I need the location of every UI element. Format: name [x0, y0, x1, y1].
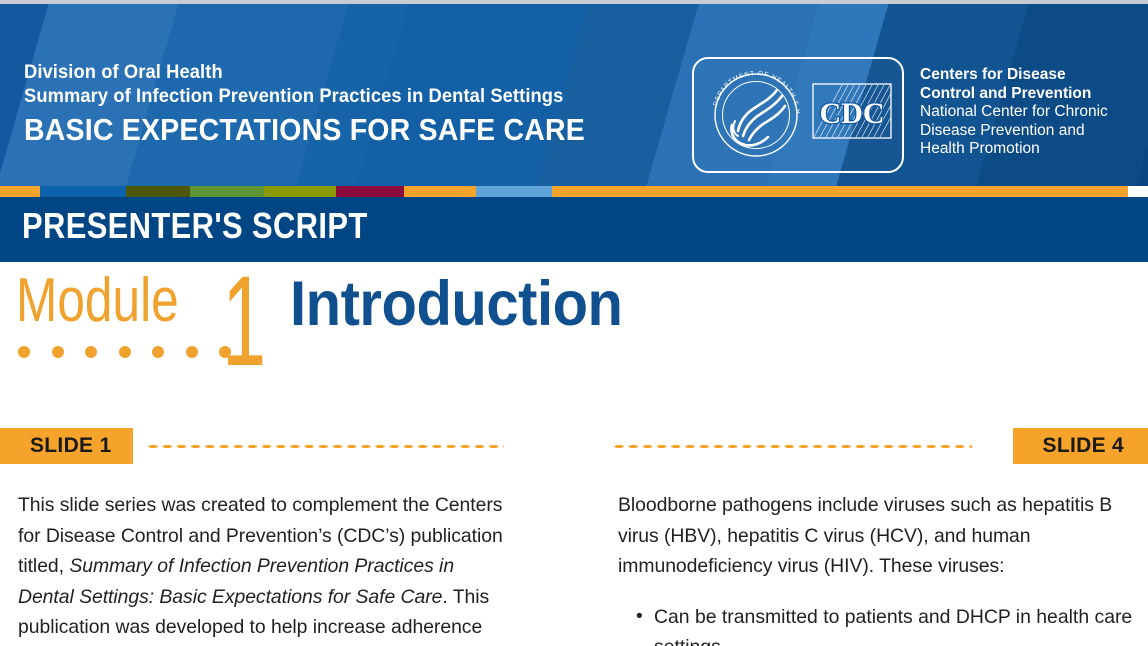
color-segment-8 — [552, 186, 1128, 197]
page-header: Division of Oral Health Summary of Infec… — [0, 4, 1148, 186]
presenter-script-bar: PRESENTER'S SCRIPT — [0, 197, 1148, 262]
bullet-item: Can be transmitted to patients and DHCP … — [634, 602, 1148, 646]
agency-line-5: Health Promotion — [920, 140, 1140, 159]
module-dot — [186, 346, 198, 358]
agency-line-1: Centers for Disease — [920, 66, 1140, 85]
module-dot — [85, 346, 97, 358]
summary-line: Summary of Infection Prevention Practice… — [24, 84, 597, 109]
cdc-logo: DEPARTMENT OF HEALTH & HUMAN SERVICES US… — [692, 57, 904, 173]
slide-4-paragraph: Bloodborne pathogens include viruses suc… — [612, 490, 1148, 582]
module-dot — [52, 346, 64, 358]
cdc-wordmark-icon: CDC — [812, 83, 892, 139]
agency-name: Centers for Disease Control and Preventi… — [920, 66, 1140, 159]
module-number: 1 — [222, 264, 266, 380]
slide-4-bullet-list: Can be transmitted to patients and DHCP … — [612, 602, 1148, 646]
color-segment-4 — [264, 186, 336, 197]
svg-text:CDC: CDC — [820, 97, 885, 130]
color-segment-2 — [126, 186, 190, 197]
color-segment-7 — [476, 186, 552, 197]
dotted-rule-left — [146, 444, 504, 449]
dotted-rule-right — [612, 444, 972, 449]
module-title-row: Module 1 Introduction — [0, 266, 1148, 391]
publication-title: Summary of Infection Prevention Practice… — [18, 555, 454, 608]
content-columns: SLIDE 1 This slide series was created to… — [0, 428, 1148, 646]
module-word: Module — [16, 270, 179, 332]
agency-line-4: Disease Prevention and — [920, 122, 1140, 141]
module-dot — [119, 346, 131, 358]
column-right: SLIDE 4 Bloodborne pathogens include vir… — [612, 428, 1148, 646]
svg-text:DEPARTMENT OF HEALTH & HUMAN S: DEPARTMENT OF HEALTH & HUMAN SERVICES US… — [704, 63, 801, 115]
color-segment-0 — [0, 186, 40, 197]
module-dot — [18, 346, 30, 358]
agency-line-2: Control and Prevention — [920, 85, 1140, 104]
slide-1-paragraph: This slide series was created to complem… — [0, 490, 512, 646]
slide-header-right: SLIDE 4 — [612, 428, 1148, 464]
accent-color-bar — [0, 186, 1148, 197]
agency-line-3: National Center for Chronic — [920, 103, 1140, 122]
slide-header-left: SLIDE 1 — [0, 428, 512, 464]
hhs-seal-icon: DEPARTMENT OF HEALTH & HUMAN SERVICES US… — [704, 63, 808, 167]
presenter-script-label: PRESENTER'S SCRIPT — [22, 205, 368, 247]
color-segment-6 — [404, 186, 476, 197]
color-segment-1 — [40, 186, 126, 197]
slide-tag-1: SLIDE 1 — [0, 428, 133, 464]
module-dot-row — [18, 346, 231, 358]
header-titles: Division of Oral Health Summary of Infec… — [24, 60, 634, 149]
main-title: BASIC EXPECTATIONS FOR SAFE CARE — [24, 111, 585, 149]
column-left: SLIDE 1 This slide series was created to… — [0, 428, 512, 646]
division-line: Division of Oral Health — [24, 60, 597, 84]
module-dot — [152, 346, 164, 358]
presenter-script-page: Division of Oral Health Summary of Infec… — [0, 0, 1148, 646]
module-heading: Introduction — [290, 272, 623, 336]
color-segment-5 — [336, 186, 404, 197]
slide-tag-4: SLIDE 4 — [1013, 428, 1148, 464]
color-segment-3 — [190, 186, 264, 197]
